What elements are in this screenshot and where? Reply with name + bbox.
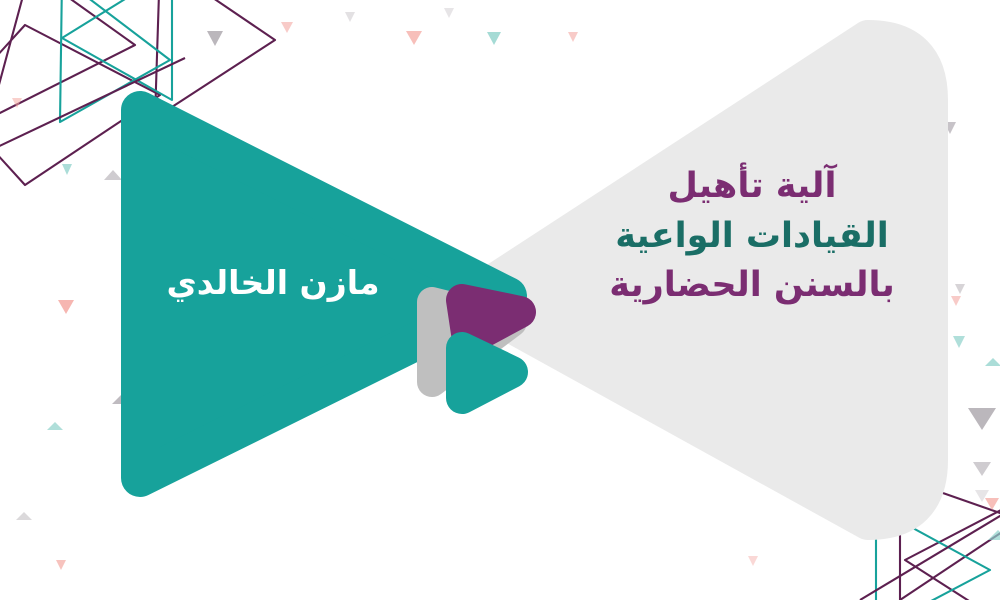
slide-canvas: مازن الخالدي آلية تأهيل القيادات الواعية… xyxy=(0,0,1000,600)
title-line-1: آلية تأهيل xyxy=(566,162,938,212)
presenter-name: مازن الخالدي xyxy=(118,262,428,303)
title-line-3: بالسنن الحضارية xyxy=(566,261,938,311)
slide-title: آلية تأهيل القيادات الواعية بالسنن الحضا… xyxy=(566,162,938,311)
title-line-2: القيادات الواعية xyxy=(566,212,938,262)
logo-teal-arrow-icon xyxy=(462,348,512,398)
logo-purple-arrow-icon xyxy=(462,300,520,340)
